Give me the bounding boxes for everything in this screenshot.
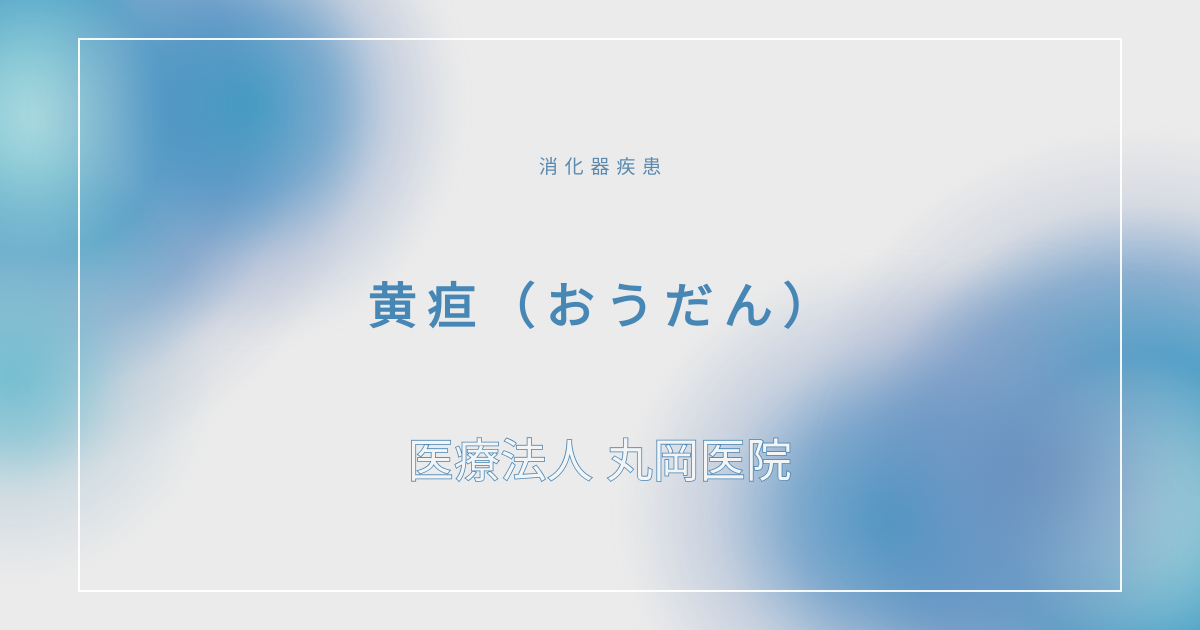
- og-card: 消化器疾患 黄疸（おうだん） 医療法人 丸岡医院: [0, 0, 1200, 630]
- card-content: 消化器疾患 黄疸（おうだん） 医療法人 丸岡医院: [0, 0, 1200, 630]
- category-label: 消化器疾患: [0, 155, 1200, 182]
- page-title: 黄疸（おうだん）: [0, 276, 1200, 340]
- clinic-name: 医療法人 丸岡医院: [0, 432, 1200, 492]
